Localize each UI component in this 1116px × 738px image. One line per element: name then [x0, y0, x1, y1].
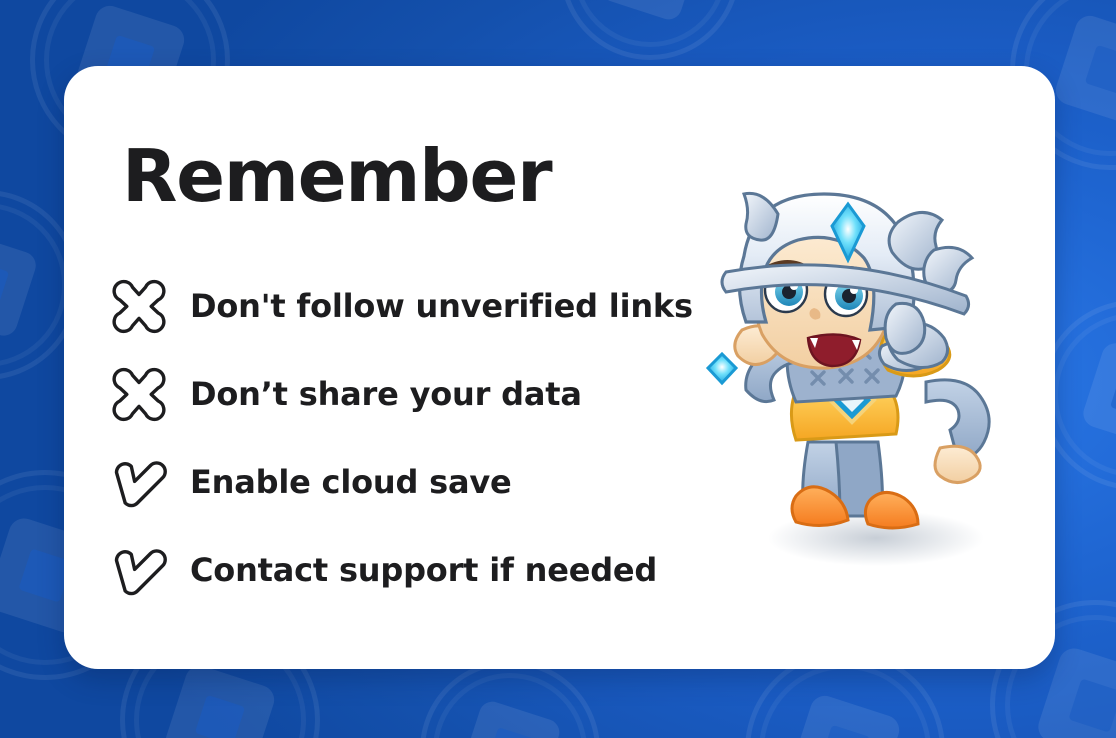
list-item[interactable]: Don’t share your data	[108, 350, 728, 438]
content-card: Remember Don't follow unverified links D…	[64, 66, 1055, 669]
roblox-coin-icon	[420, 660, 600, 738]
cross-outline-icon	[108, 363, 170, 425]
slide-canvas: Remember Don't follow unverified links D…	[0, 0, 1116, 738]
character-right-arm	[926, 380, 989, 483]
list-item[interactable]: Contact support if needed	[108, 526, 728, 614]
roblox-coin-icon	[560, 0, 740, 60]
check-outline-icon	[108, 539, 170, 601]
page-title: Remember	[122, 140, 551, 212]
list-item[interactable]: Enable cloud save	[108, 438, 728, 526]
list-item-label: Contact support if needed	[190, 551, 657, 589]
list-item-label: Don’t share your data	[190, 375, 582, 413]
list-item-label: Enable cloud save	[190, 463, 512, 501]
cross-outline-icon	[108, 275, 170, 337]
list-item[interactable]: Don't follow unverified links	[108, 262, 728, 350]
check-outline-icon	[108, 451, 170, 513]
tips-list: Don't follow unverified links Don’t shar…	[108, 262, 728, 614]
knight-character-illustration	[690, 186, 1040, 586]
list-item-label: Don't follow unverified links	[190, 287, 693, 325]
